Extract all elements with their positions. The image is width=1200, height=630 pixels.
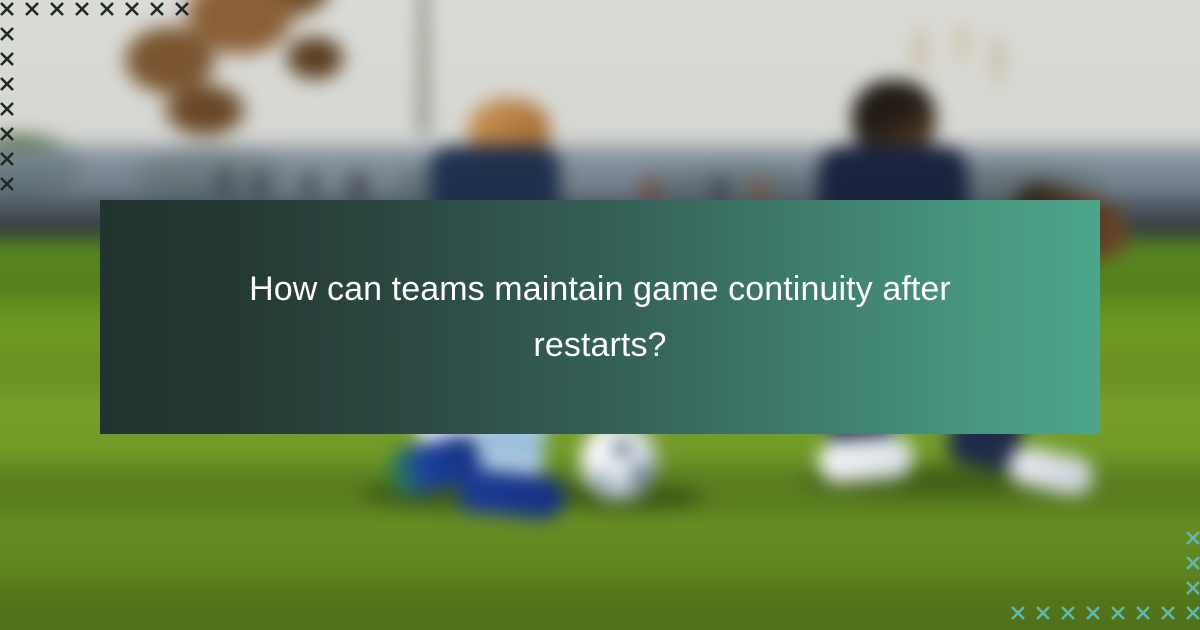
- floodlight-pole: [418, 0, 429, 135]
- x-pattern-top-left: [0, 0, 210, 210]
- x-pattern-bottom-right: [990, 530, 1200, 630]
- soccer-ball-panel: [612, 440, 632, 457]
- soccer-ball-panel: [596, 472, 611, 485]
- soccer-ball-panel: [628, 465, 652, 485]
- social-card: How can teams maintain game continuity a…: [0, 0, 1200, 630]
- headline-banner: How can teams maintain game continuity a…: [100, 200, 1100, 434]
- headline-text: How can teams maintain game continuity a…: [230, 261, 970, 373]
